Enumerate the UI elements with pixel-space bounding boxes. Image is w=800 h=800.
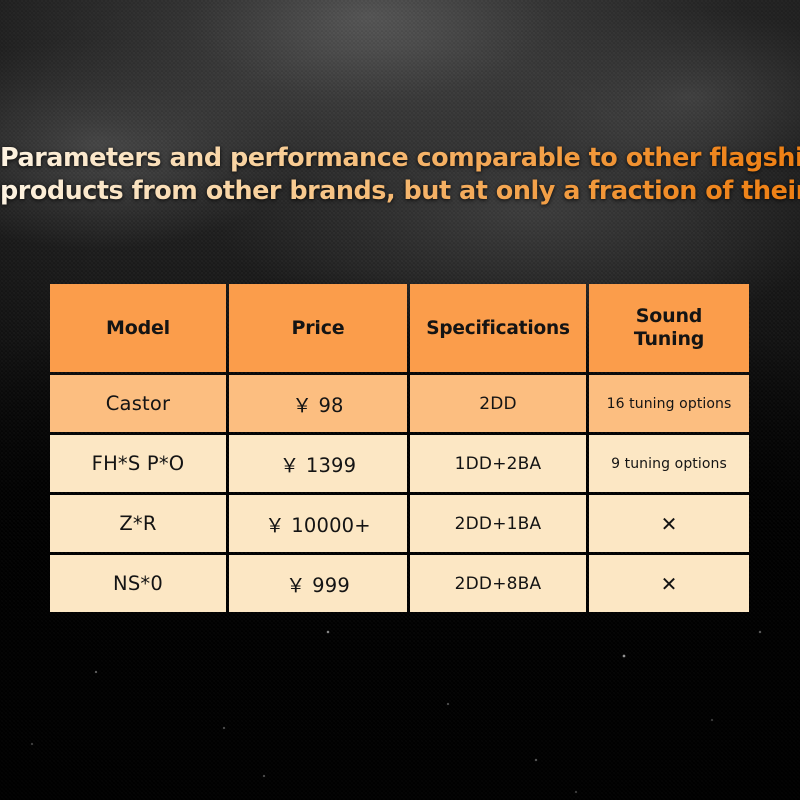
cell-specifications: 2DD+1BA bbox=[410, 495, 586, 552]
cell-model: NS*0 bbox=[50, 555, 226, 612]
comparison-table: Model Price Specifications Sound Tuning … bbox=[47, 281, 752, 615]
table-header-row: Model Price Specifications Sound Tuning bbox=[50, 284, 749, 372]
table-row: Castor ￥ 98 2DD 16 tuning options bbox=[50, 375, 749, 432]
column-header-sound-tuning: Sound Tuning bbox=[589, 284, 749, 372]
cell-sound-tuning: 9 tuning options bbox=[589, 435, 749, 492]
cell-price: ￥ 10000+ bbox=[229, 495, 407, 552]
cell-model: Z*R bbox=[50, 495, 226, 552]
cell-specifications: 2DD+8BA bbox=[410, 555, 586, 612]
column-header-price: Price bbox=[229, 284, 407, 372]
headline-block: Parameters and performance comparable to… bbox=[0, 142, 800, 208]
cell-price: ￥ 98 bbox=[229, 375, 407, 432]
cell-model: Castor bbox=[50, 375, 226, 432]
promo-graphic: Parameters and performance comparable to… bbox=[0, 0, 800, 800]
cell-model: FH*S P*O bbox=[50, 435, 226, 492]
headline-line-1: Parameters and performance comparable to… bbox=[0, 142, 800, 175]
column-header-model: Model bbox=[50, 284, 226, 372]
table-header: Model Price Specifications Sound Tuning bbox=[50, 284, 749, 372]
cell-price: ￥ 999 bbox=[229, 555, 407, 612]
column-header-specifications: Specifications bbox=[410, 284, 586, 372]
column-header-sound-tuning-line2: Tuning bbox=[634, 328, 704, 350]
cell-sound-tuning-unavailable-icon: ✕ bbox=[589, 555, 749, 612]
table-body: Castor ￥ 98 2DD 16 tuning options FH*S P… bbox=[50, 375, 749, 612]
cell-sound-tuning: 16 tuning options bbox=[589, 375, 749, 432]
cell-price: ￥ 1399 bbox=[229, 435, 407, 492]
column-header-sound-tuning-line1: Sound bbox=[636, 305, 702, 327]
cell-specifications: 1DD+2BA bbox=[410, 435, 586, 492]
table-row: FH*S P*O ￥ 1399 1DD+2BA 9 tuning options bbox=[50, 435, 749, 492]
cell-sound-tuning-unavailable-icon: ✕ bbox=[589, 495, 749, 552]
table-row: Z*R ￥ 10000+ 2DD+1BA ✕ bbox=[50, 495, 749, 552]
cell-specifications: 2DD bbox=[410, 375, 586, 432]
headline-line-2: products from other brands, but at only … bbox=[0, 175, 800, 208]
table-row: NS*0 ￥ 999 2DD+8BA ✕ bbox=[50, 555, 749, 612]
